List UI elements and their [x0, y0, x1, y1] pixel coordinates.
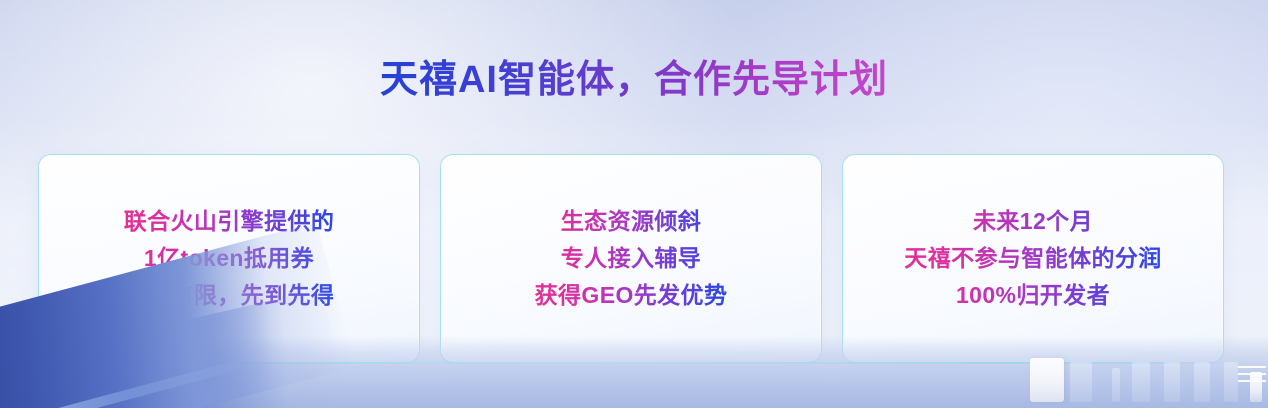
benefit-card-row: 联合火山引擎提供的 1亿token抵用券 名额有限，先到先得 生态资源倾斜 专人…: [38, 154, 1224, 363]
card-line: 天禧不参与智能体的分润: [904, 240, 1161, 277]
card-line: 联合火山引擎提供的: [124, 203, 335, 240]
card-line: 1亿token抵用券: [124, 240, 335, 277]
slide-title-container: 天禧AI智能体，合作先导计划: [0, 34, 1268, 127]
benefit-card-ecosystem-support[interactable]: 生态资源倾斜 专人接入辅导 获得GEO先发优势: [440, 154, 822, 363]
column: [1164, 362, 1180, 402]
card-text-block: 联合火山引擎提供的 1亿token抵用券 名额有限，先到先得: [114, 203, 345, 314]
presentation-slide: 天禧AI智能体，合作先导计划 联合火山引擎提供的 1亿token抵用券 名额有限…: [0, 0, 1268, 408]
card-line: 生态资源倾斜: [535, 203, 728, 240]
rail-line: [1238, 366, 1266, 368]
benefit-card-token-voucher[interactable]: 联合火山引擎提供的 1亿token抵用券 名额有限，先到先得: [38, 154, 420, 363]
column: [1132, 362, 1150, 402]
slide-title: 天禧AI智能体，合作先导计划: [380, 59, 888, 102]
card-line: 未来12个月: [904, 203, 1161, 240]
column-block: [1030, 358, 1064, 402]
card-text-block: 生态资源倾斜 专人接入辅导 获得GEO先发优势: [525, 203, 738, 314]
rail-line: [1238, 380, 1266, 382]
column: [1224, 362, 1238, 402]
card-line: 名额有限，先到先得: [124, 277, 335, 314]
column: [1070, 362, 1092, 402]
card-line: 专人接入辅导: [535, 240, 728, 277]
rail-line: [1238, 373, 1266, 375]
column: [1112, 368, 1120, 402]
column: [1194, 362, 1210, 402]
card-text-block: 未来12个月 天禧不参与智能体的分润 100%归开发者: [894, 203, 1171, 314]
benefit-card-revenue-share[interactable]: 未来12个月 天禧不参与智能体的分润 100%归开发者: [842, 154, 1224, 363]
card-line: 获得GEO先发优势: [535, 277, 728, 314]
card-line: 100%归开发者: [904, 277, 1161, 314]
column: [1250, 372, 1262, 402]
